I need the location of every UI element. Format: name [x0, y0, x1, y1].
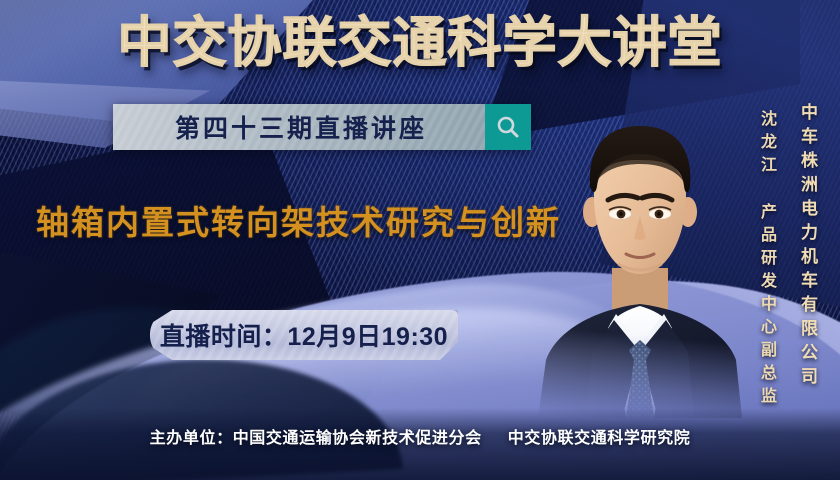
- footer-prefix: 主办单位：: [150, 430, 233, 447]
- footer-organizer-2: 中交协联交通科学研究院: [508, 430, 691, 447]
- speaker-name-title: 沈龙江 产品研发中心副总监: [754, 110, 778, 410]
- lecture-topic-title: 轴箱内置式转向架技术研究与创新: [36, 196, 561, 244]
- speaker-portrait-illustration: [530, 108, 750, 418]
- speaker-company: 中车株洲电力机车有限公司: [795, 103, 820, 391]
- footer-organizer-1: 中国交通运输协会新技术促进分会: [233, 430, 482, 447]
- livestream-poster: 中交协联交通科学大讲堂 第四十三期直播讲座 轴箱内置式转向架技术研究与创新 直播…: [0, 0, 840, 480]
- search-icon[interactable]: [485, 104, 531, 150]
- episode-label: 第四十三期直播讲座: [113, 104, 485, 150]
- episode-banner: 第四十三期直播讲座: [113, 104, 531, 150]
- footer-organizers: 主办单位：中国交通运输协会新技术促进分会中交协联交通科学研究院: [0, 424, 840, 448]
- broadcast-time-badge: 直播时间：12月9日19:30: [150, 310, 458, 360]
- speaker-portrait: [530, 108, 750, 418]
- page-title: 中交协联交通科学大讲堂: [0, 12, 840, 75]
- search-icon-glyph: [495, 114, 521, 140]
